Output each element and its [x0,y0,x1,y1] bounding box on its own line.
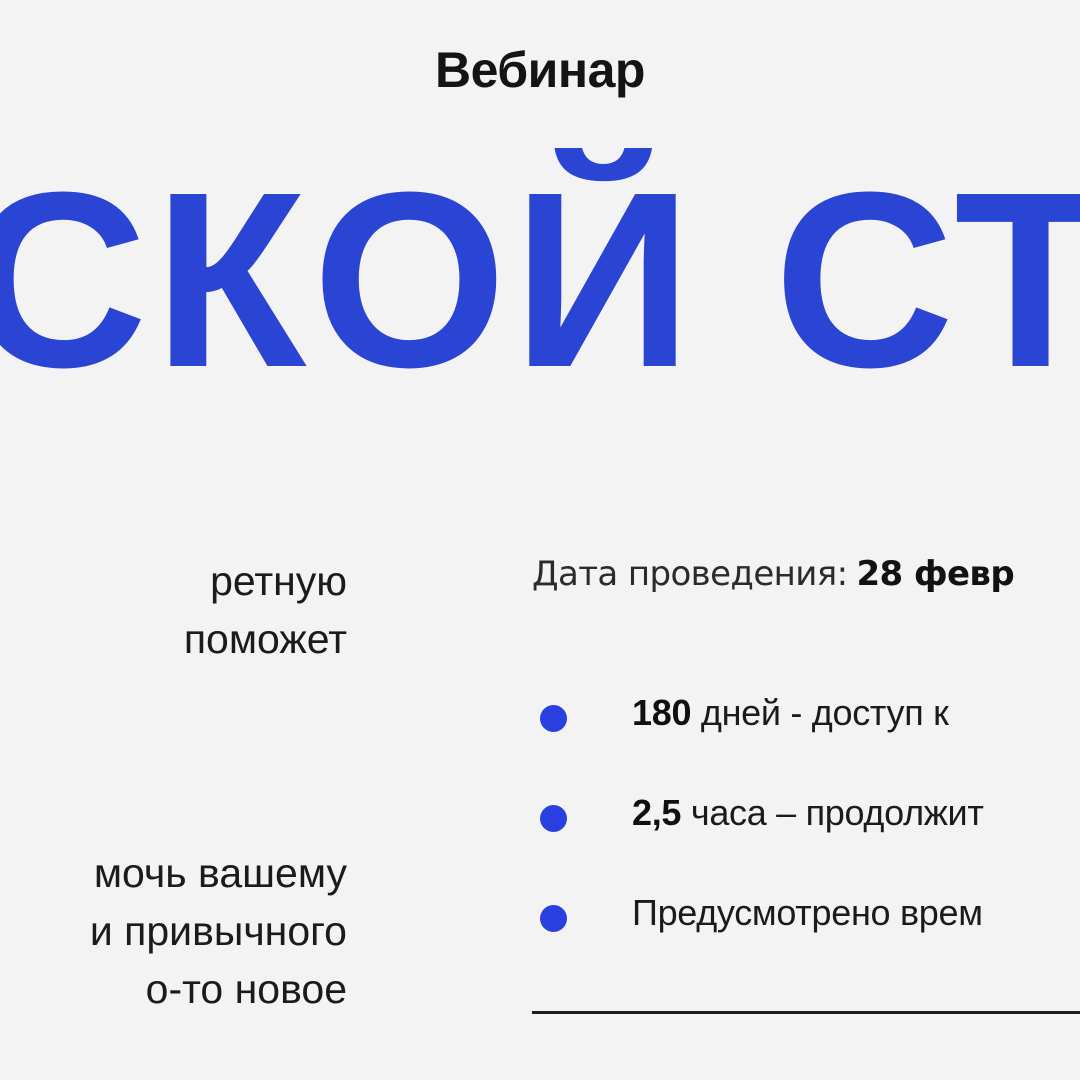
left-paragraph-2-line-1: мочь вашему [90,844,347,902]
headline-band: СКОЙ СТ [0,148,1080,438]
list-item: 180 дней - доступ к [532,680,1080,780]
left-paragraph-1-line-2: поможет [184,610,347,668]
webinar-promo-slide: Вебинар СКОЙ СТ ретную поможет мочь ваше… [0,0,1080,1080]
list-item-text: 180 дней - доступ к [632,690,949,735]
bullet-dot-icon [540,705,567,732]
list-item-highlight: 180 [632,692,691,733]
left-paragraph-2: мочь вашему и привычного о-то новое [90,844,347,1019]
section-divider [532,1011,1080,1014]
event-date-label: Дата проведения: [532,554,847,594]
left-paragraph-1-line-1: ретную [184,552,347,610]
event-date-row: Дата проведения:28 февр [532,554,1014,595]
list-item-body: дней - доступ к [701,692,949,733]
kicker-label: Вебинар [0,44,1080,97]
event-date-value: 28 февр [856,554,1014,594]
page-title: СКОЙ СТ [0,148,1080,420]
bullet-dot-icon [540,905,567,932]
left-paragraph-2-line-2: и привычного [90,902,347,960]
list-item-body: Предусмотрено врем [632,892,983,933]
feature-bullet-list: 180 дней - доступ к 2,5 часа – продолжит… [532,680,1080,980]
list-item-body: часа – продолжит [691,792,984,833]
content-columns: ретную поможет мочь вашему и привычного … [0,540,1080,1080]
list-item: Предусмотрено врем [532,880,1080,980]
list-item: 2,5 часа – продолжит [532,780,1080,880]
left-paragraph-2-line-3: о-то новое [90,960,347,1018]
right-details-column: Дата проведения:28 февр 180 дней - досту… [520,540,1080,1080]
left-paragraph-1: ретную поможет [184,552,347,668]
bullet-dot-icon [540,805,567,832]
list-item-text: Предусмотрено врем [632,890,983,935]
list-item-highlight: 2,5 [632,792,681,833]
list-item-text: 2,5 часа – продолжит [632,790,984,835]
left-text-column: ретную поможет мочь вашему и привычного … [0,540,470,1080]
